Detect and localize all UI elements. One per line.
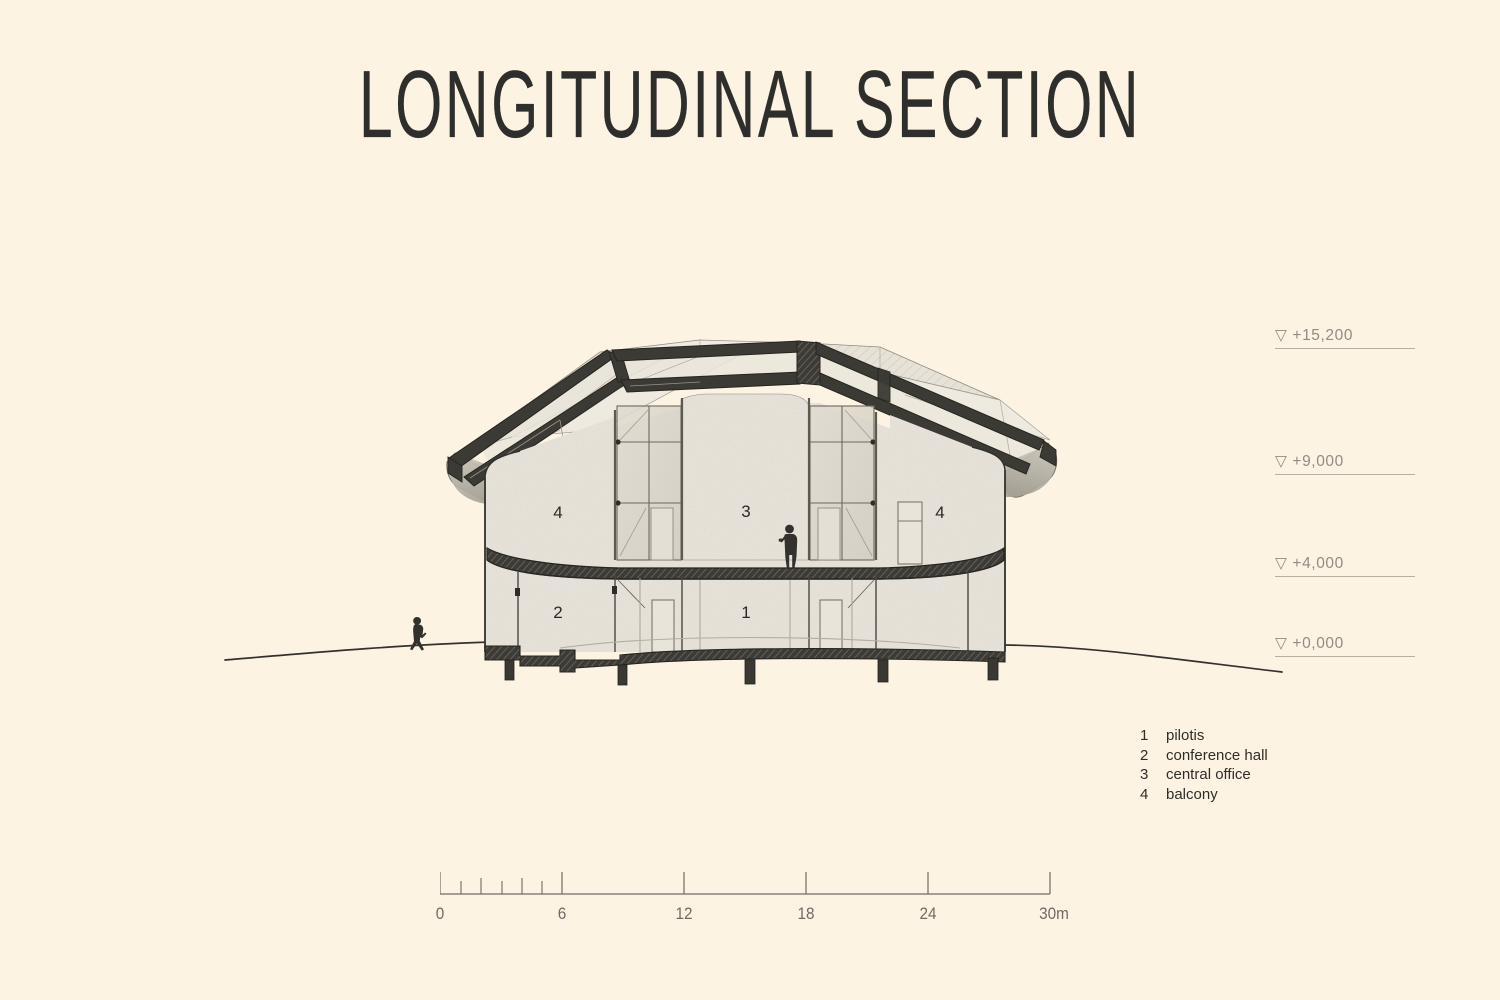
- legend-number: 1: [1140, 726, 1166, 746]
- curtain-wall-left: [615, 406, 681, 560]
- room-tag: 2: [553, 603, 562, 622]
- legend-number: 2: [1140, 746, 1166, 766]
- room-tag: 4: [935, 503, 944, 522]
- legend-item: 1 pilotis: [1140, 726, 1268, 746]
- legend-item: 3 central office: [1140, 765, 1268, 785]
- room-tag: 4: [553, 503, 562, 522]
- room-tag: 1: [741, 603, 750, 622]
- drawing-sheet: LONGITUDINAL SECTION: [0, 0, 1500, 1000]
- section-drawing: 4 3 4 2 1: [0, 0, 1500, 1000]
- scale-tick-label: 30m: [1039, 904, 1069, 924]
- curtain-wall-right: [810, 406, 876, 560]
- scale-bar-graphic: [440, 868, 1060, 902]
- scale-tick-label: 18: [797, 904, 814, 924]
- legend-item: 4 balcony: [1140, 785, 1268, 805]
- scale-tick-label: 24: [919, 904, 936, 924]
- elevation-label: ▽ +15,200: [1275, 327, 1353, 344]
- scale-tick-label: 6: [558, 904, 567, 924]
- elevation-label: ▽ +4,000: [1275, 555, 1344, 572]
- legend: 1 pilotis 2 conference hall 3 central of…: [1140, 726, 1268, 804]
- room-tag: 3: [741, 502, 750, 521]
- elevation-marker-9000: ▽ +9,000: [1275, 452, 1415, 475]
- scale-tick-label: 12: [675, 904, 692, 924]
- scale-bar: 0 6 12 18 24 30m: [440, 868, 1060, 938]
- elevation-marker-4000: ▽ +4,000: [1275, 554, 1415, 577]
- scale-tick-label: 0: [436, 904, 445, 924]
- legend-label: central office: [1166, 765, 1251, 785]
- legend-label: pilotis: [1166, 726, 1204, 746]
- legend-item: 2 conference hall: [1140, 746, 1268, 766]
- balcony-door-right: [898, 502, 922, 564]
- elevation-label: ▽ +9,000: [1275, 453, 1344, 470]
- clerestory-post-right: [878, 368, 890, 402]
- legend-number: 3: [1140, 765, 1166, 785]
- elevation-label: ▽ +0,000: [1275, 635, 1344, 652]
- elevation-marker-15200: ▽ +15,200: [1275, 326, 1415, 349]
- legend-label: conference hall: [1166, 746, 1268, 766]
- legend-number: 4: [1140, 785, 1166, 805]
- legend-label: balcony: [1166, 785, 1218, 805]
- elevation-marker-0000: ▽ +0,000: [1275, 634, 1415, 657]
